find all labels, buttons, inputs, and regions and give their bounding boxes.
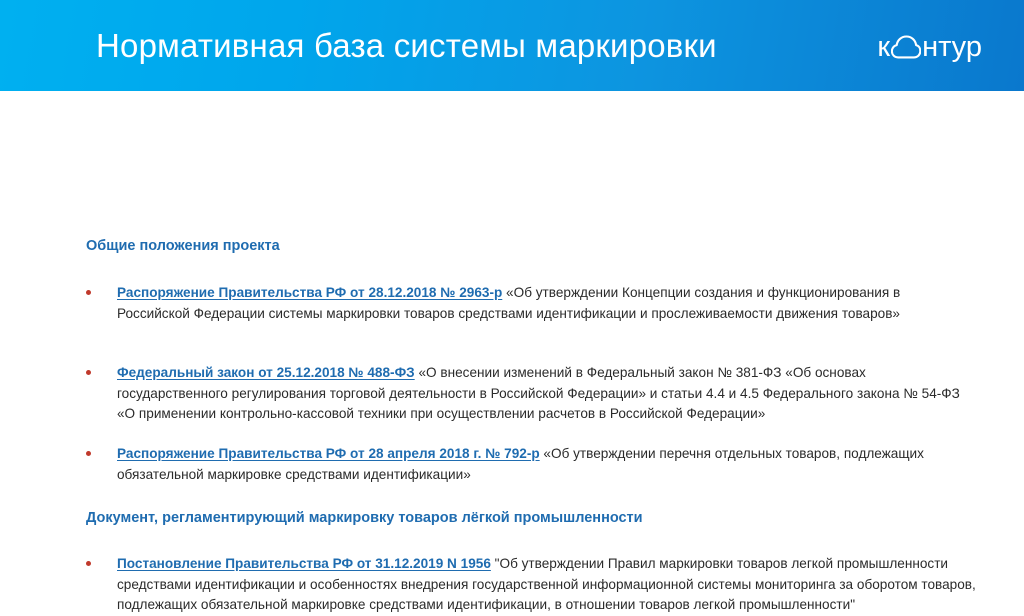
brand-logo-prefix: к (877, 32, 890, 62)
document-link-792-r[interactable]: Распоряжение Правительства РФ от 28 апре… (117, 446, 540, 461)
list-item: Постановление Правительства РФ от 31.12.… (86, 554, 976, 616)
document-link-488-fz[interactable]: Федеральный закон от 25.12.2018 № 488-ФЗ (117, 365, 415, 380)
list-item-text: Постановление Правительства РФ от 31.12.… (117, 554, 976, 616)
section-heading-light-industry-document: Документ, регламентирующий маркировку то… (86, 509, 643, 527)
section-heading-general-provisions: Общие положения проекта (86, 237, 280, 255)
list-item-text: Распоряжение Правительства РФ от 28 апре… (117, 444, 976, 485)
document-link-1956[interactable]: Постановление Правительства РФ от 31.12.… (117, 556, 491, 571)
cloud-icon (891, 35, 921, 59)
bullet-dot-icon (86, 290, 91, 295)
slide-header-banner: Нормативная база системы маркировки к нт… (0, 0, 1024, 91)
list-item-text: Распоряжение Правительства РФ от 28.12.2… (117, 283, 976, 324)
brand-logo-text: к нтур (877, 32, 982, 62)
brand-logo[interactable]: к нтур (877, 30, 982, 64)
list-item-text: Федеральный закон от 25.12.2018 № 488-ФЗ… (117, 363, 976, 425)
list-item: Распоряжение Правительства РФ от 28.12.2… (86, 283, 976, 324)
bullet-dot-icon (86, 370, 91, 375)
bullet-dot-icon (86, 451, 91, 456)
brand-logo-suffix: нтур (922, 32, 982, 62)
document-link-2963-r[interactable]: Распоряжение Правительства РФ от 28.12.2… (117, 285, 502, 300)
page-title: Нормативная база системы маркировки (96, 26, 717, 66)
list-item: Распоряжение Правительства РФ от 28 апре… (86, 444, 976, 485)
bullet-dot-icon (86, 561, 91, 566)
list-item: Федеральный закон от 25.12.2018 № 488-ФЗ… (86, 363, 976, 425)
